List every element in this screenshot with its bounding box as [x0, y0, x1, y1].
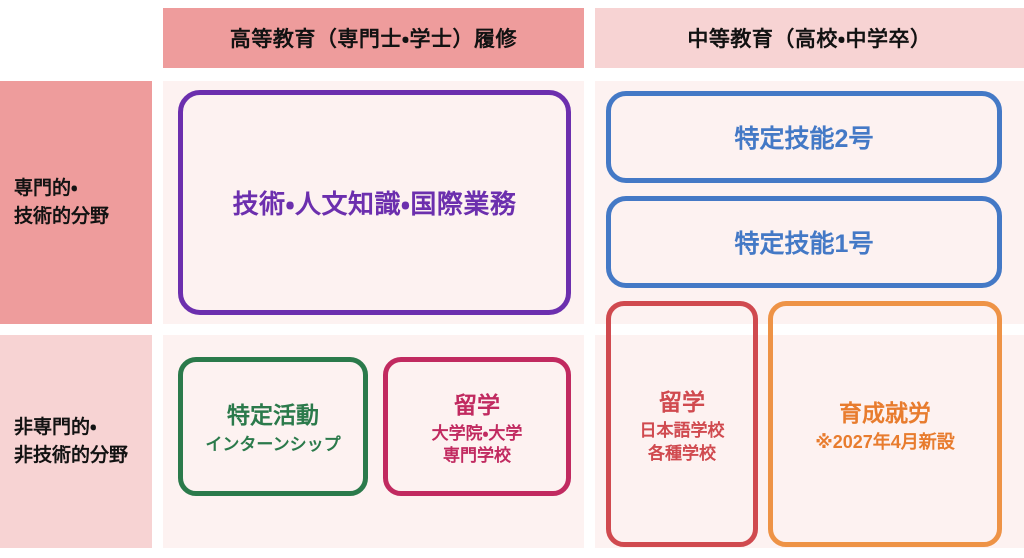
row-label-non-professional-line2: 非技術的分野 [14, 442, 128, 470]
box-engineering-title: 技術・人文知識・国際業務 [233, 184, 517, 221]
row-label-non-professional-line1: 非専門的・ [14, 414, 128, 442]
box-training-employment[interactable]: 育成就労 ※2027年4月新設 [768, 301, 1002, 547]
column-header-higher-education: 高等教育（専門士・学士）履修 [163, 8, 584, 68]
row-label-non-professional-technical: 非専門的・ 非技術的分野 [0, 335, 152, 548]
box-study-abroad-language-school[interactable]: 留学 日本語学校 各種学校 [606, 301, 758, 547]
box-designated-activities-subtitle: インターンシップ [205, 434, 340, 456]
box-training-employment-title: 育成就労 [839, 394, 931, 428]
row-label-professional-technical: 専門的・ 技術的分野 [0, 81, 152, 324]
row-label-professional-line2: 技術的分野 [14, 203, 109, 231]
column-header-secondary-education: 中等教育（高校・中学卒） [595, 8, 1024, 68]
box-study-abroad-secondary-title: 留学 [659, 383, 705, 417]
box-training-employment-subtitle: ※2027年4月新設 [815, 431, 955, 455]
box-ssw1-title: 特定技能1号 [735, 224, 874, 260]
box-engineering-humanities-international-services[interactable]: 技術・人文知識・国際業務 [178, 90, 571, 315]
row-label-professional-line1: 専門的・ [14, 175, 109, 203]
box-specified-skilled-worker-1[interactable]: 特定技能1号 [606, 196, 1002, 288]
box-study-abroad-higher-education[interactable]: 留学 大学院・大学 専門学校 [383, 357, 571, 496]
box-specified-skilled-worker-2[interactable]: 特定技能2号 [606, 91, 1002, 183]
box-study-abroad-secondary-subtitle: 日本語学校 各種学校 [640, 420, 725, 465]
box-study-abroad-higher-subtitle: 大学院・大学 専門学校 [432, 423, 523, 468]
diagram-canvas: 高等教育（専門士・学士）履修 中等教育（高校・中学卒） 専門的・ 技術的分野 非… [0, 0, 1024, 558]
box-ssw2-title: 特定技能2号 [735, 119, 874, 155]
box-designated-activities[interactable]: 特定活動 インターンシップ [178, 357, 368, 496]
box-study-abroad-higher-title: 留学 [454, 386, 500, 420]
box-designated-activities-title: 特定活動 [227, 396, 319, 430]
